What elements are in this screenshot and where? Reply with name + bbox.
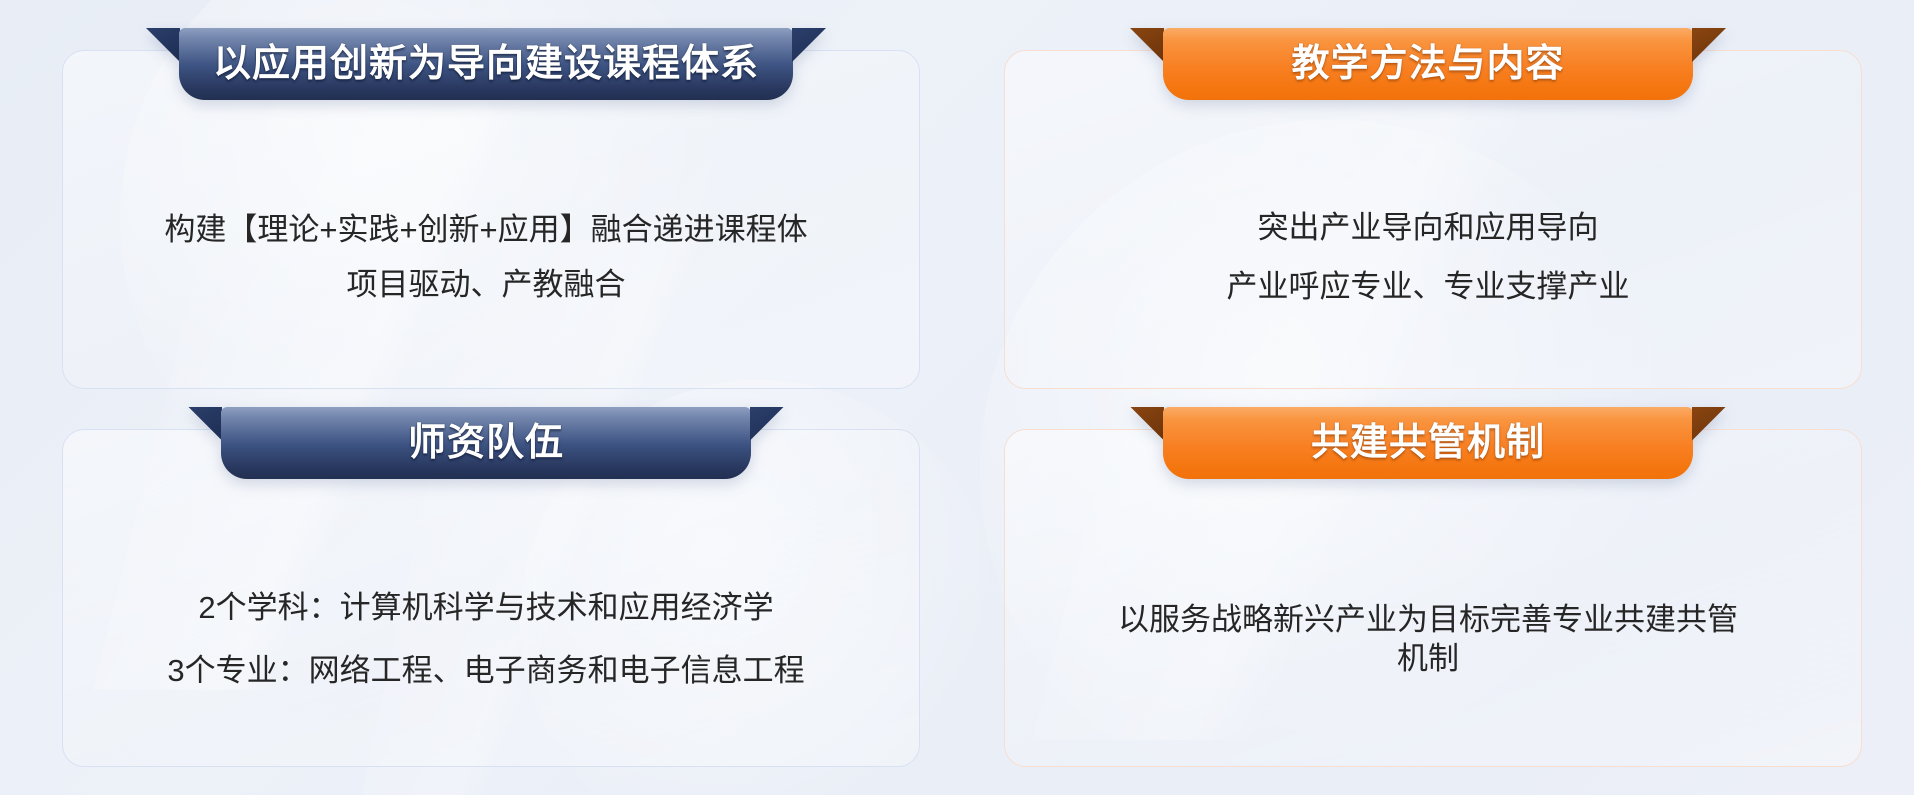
card-title: 共建共管机制 — [1311, 424, 1545, 462]
ribbon-fold-left-icon — [146, 28, 180, 62]
ribbon-fold-left-icon — [1130, 28, 1164, 62]
card-grid: 以应用创新为导向建设课程体系 构建【理论+实践+创新+应用】融合递进课程体 项目… — [0, 0, 1914, 795]
ribbon-body: 教学方法与内容 — [1163, 28, 1693, 100]
card-body-line: 突出产业导向和应用导向 — [1258, 208, 1599, 247]
ribbon-fold-left-icon — [1130, 407, 1164, 441]
card-body-line: 产业呼应专业、专业支撑产业 — [1227, 267, 1630, 306]
ribbon-fold-right-icon — [1692, 407, 1726, 441]
card-title: 以应用创新为导向建设课程体系 — [213, 45, 759, 83]
card-course-system[interactable]: 以应用创新为导向建设课程体系 构建【理论+实践+创新+应用】融合递进课程体 项目… — [24, 22, 948, 399]
card-body-line: 3个专业：网络工程、电子商务和电子信息工程 — [167, 651, 804, 690]
card-title: 教学方法与内容 — [1291, 45, 1564, 83]
ribbon-body: 以应用创新为导向建设课程体系 — [179, 28, 793, 100]
card-body: 构建【理论+实践+创新+应用】融合递进课程体 项目驱动、产教融合 — [58, 134, 914, 381]
ribbon-banner: 师资队伍 — [188, 407, 784, 479]
card-body-line: 构建【理论+实践+创新+应用】融合递进课程体 — [164, 210, 807, 249]
card-body: 2个学科：计算机科学与技术和应用经济学 3个专业：网络工程、电子商务和电子信息工… — [58, 519, 914, 760]
ribbon-fold-right-icon — [1692, 28, 1726, 62]
card-title: 师资队伍 — [408, 424, 564, 462]
card-body-line: 以服务战略新兴产业为目标完善专业共建共管机制 — [1118, 600, 1738, 678]
card-teaching-method[interactable]: 教学方法与内容 突出产业导向和应用导向 产业呼应专业、专业支撑产业 — [966, 22, 1890, 399]
card-body-line: 2个学科：计算机科学与技术和应用经济学 — [198, 588, 773, 627]
ribbon-body: 共建共管机制 — [1163, 407, 1693, 479]
ribbon-fold-left-icon — [188, 407, 222, 441]
ribbon-banner: 以应用创新为导向建设课程体系 — [146, 28, 826, 100]
ribbon-body: 师资队伍 — [221, 407, 751, 479]
card-faculty-team[interactable]: 师资队伍 2个学科：计算机科学与技术和应用经济学 3个专业：网络工程、电子商务和… — [24, 401, 948, 778]
card-co-build-mechanism[interactable]: 共建共管机制 以服务战略新兴产业为目标完善专业共建共管机制 — [966, 401, 1890, 778]
ribbon-fold-right-icon — [792, 28, 826, 62]
card-body: 以服务战略新兴产业为目标完善专业共建共管机制 — [1000, 519, 1856, 760]
ribbon-banner: 共建共管机制 — [1130, 407, 1726, 479]
ribbon-banner: 教学方法与内容 — [1130, 28, 1726, 100]
card-body: 突出产业导向和应用导向 产业呼应专业、专业支撑产业 — [1000, 134, 1856, 381]
ribbon-fold-right-icon — [750, 407, 784, 441]
card-body-line: 项目驱动、产教融合 — [347, 265, 626, 304]
